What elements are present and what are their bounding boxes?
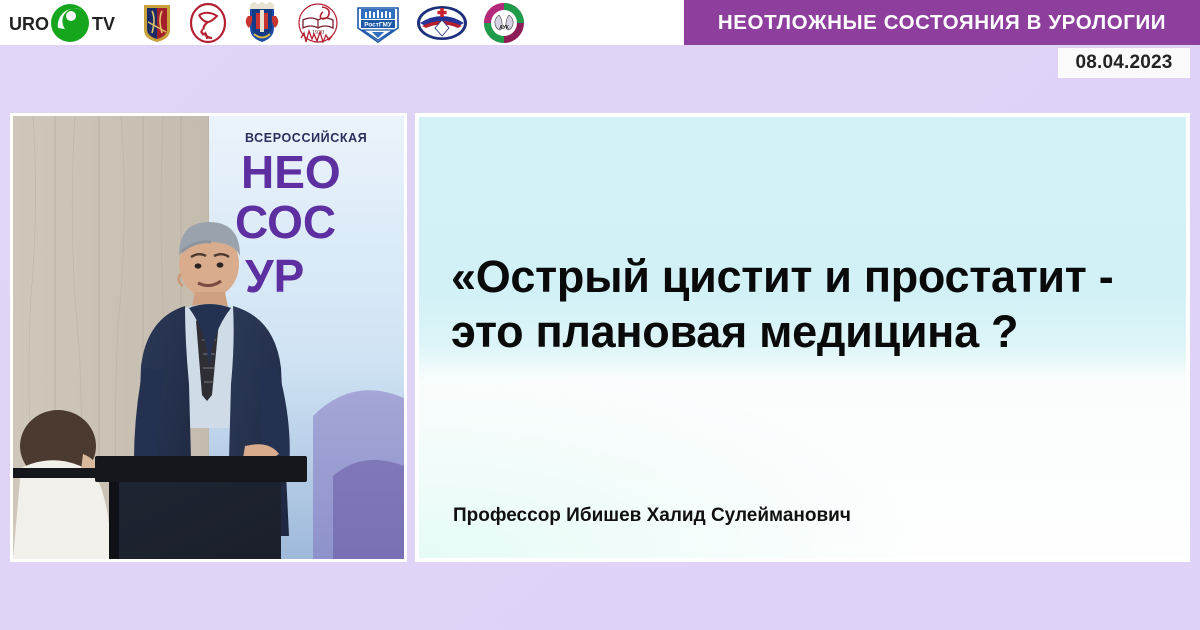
event-title-banner: НЕОТЛОЖНЫЕ СОСТОЯНИЯ В УРОЛОГИИ xyxy=(684,0,1200,45)
urotv-logo[interactable]: URO TV xyxy=(8,2,126,44)
slide-content: «Острый цистит и простатит - это планова… xyxy=(419,117,1186,558)
live-video-panel[interactable]: ВСЕРОССИЙСКАЯ НЕО СОС УР xyxy=(10,113,407,562)
slide-panel[interactable]: «Острый цистит и простатит - это планова… xyxy=(415,113,1190,562)
logo-label-rostgmu: РостГМУ xyxy=(364,21,393,28)
sponsor-logo-bar: URO TV xyxy=(0,0,684,45)
live-video-frame[interactable]: ВСЕРОССИЙСКАЯ НЕО СОС УР xyxy=(13,116,404,559)
broadcast-stage: URO TV xyxy=(0,0,1200,630)
svg-text:URO: URO xyxy=(9,14,49,34)
svg-text:АУК: АУК xyxy=(499,25,510,31)
svg-text:TV: TV xyxy=(92,14,115,34)
backdrop-line-3: СОС xyxy=(235,196,336,248)
slide-title: «Острый цистит и простатит - это планова… xyxy=(451,249,1157,359)
svg-text:АССОЦИАЦИЯ: АССОЦИАЦИЯ xyxy=(431,16,452,20)
oval-medical-association-logo[interactable]: АССОЦИАЦИЯ xyxy=(416,2,468,44)
slide-author: Профессор Ибишев Халид Сулейманович xyxy=(453,505,851,527)
shield-emblem-logo[interactable] xyxy=(140,2,174,44)
video-scene: ВСЕРОССИЙСКАЯ НЕО СОС УР xyxy=(13,116,404,559)
book-and-bowl-1920-logo[interactable]: 1920 xyxy=(296,2,340,44)
red-bowl-of-hygieia-logo[interactable] xyxy=(188,2,228,44)
kidney-association-logo[interactable]: АУК xyxy=(482,2,526,44)
broadcast-date-text: 08.04.2023 xyxy=(1075,52,1172,74)
broadcast-date-badge: 08.04.2023 xyxy=(1058,48,1190,78)
backdrop-line-1: ВСЕРОССИЙСКАЯ xyxy=(245,130,367,145)
backdrop-line-2: НЕО xyxy=(241,146,341,198)
backdrop-line-4: УР xyxy=(245,250,304,302)
rostgmu-logo[interactable]: РостГМУ xyxy=(354,2,402,44)
event-title-text: НЕОТЛОЖНЫЕ СОСТОЯНИЯ В УРОЛОГИИ xyxy=(718,11,1166,35)
rostov-region-coat-of-arms-logo[interactable] xyxy=(242,2,282,44)
